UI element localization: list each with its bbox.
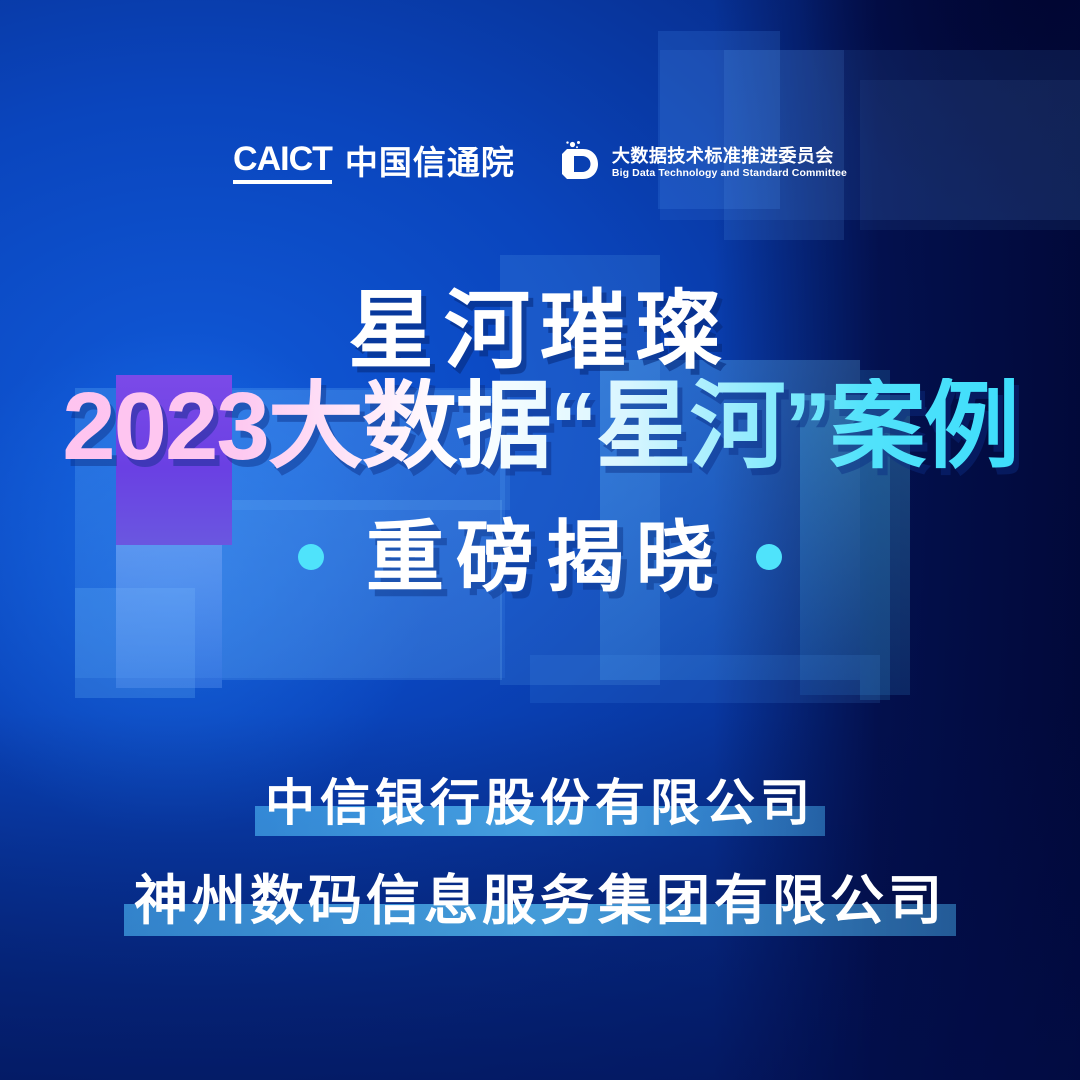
caict-chinese-name: 中国信通院 — [345, 146, 515, 184]
bullet-dot-right-icon — [756, 544, 782, 570]
title-line-1: 星河璀璨 — [0, 286, 1080, 376]
title-block: 星河璀璨 2023大数据“星河”案例 重磅揭晓 — [0, 286, 1080, 596]
bullet-dot-left-icon — [298, 544, 324, 570]
bdtsc-english-name: Big Data Technology and Standard Committ… — [612, 168, 847, 179]
company-name-1: 中信银行股份有限公司 — [255, 772, 825, 838]
company-name-2: 神州数码信息服务集团有限公司 — [124, 868, 956, 938]
caict-wordmark: CAICT — [233, 142, 332, 184]
title-line-3-row: 重磅揭晓 — [0, 518, 1080, 596]
bdtsc-chinese-name: 大数据技术标准推进委员会 — [612, 147, 847, 165]
bdtsc-logo: 大数据技术标准推进委员会 Big Data Technology and Sta… — [559, 140, 847, 186]
title-line-2: 2023大数据“星河”案例 — [0, 378, 1080, 476]
bdtsc-text-block: 大数据技术标准推进委员会 Big Data Technology and Sta… — [612, 147, 847, 179]
logo-row: CAICT 中国信通院 大数据技术标准推进委员会 Big Data Techno… — [0, 140, 1080, 186]
caict-logo: CAICT 中国信通院 — [233, 142, 515, 184]
title-line-3: 重磅揭晓 — [354, 518, 726, 596]
decorative-block-right-bar — [530, 655, 880, 703]
poster-canvas: CAICT 中国信通院 大数据技术标准推进委员会 Big Data Techno… — [0, 0, 1080, 1080]
company-list: 中信银行股份有限公司 神州数码信息服务集团有限公司 — [0, 772, 1080, 938]
bdtsc-d-icon — [559, 140, 601, 186]
